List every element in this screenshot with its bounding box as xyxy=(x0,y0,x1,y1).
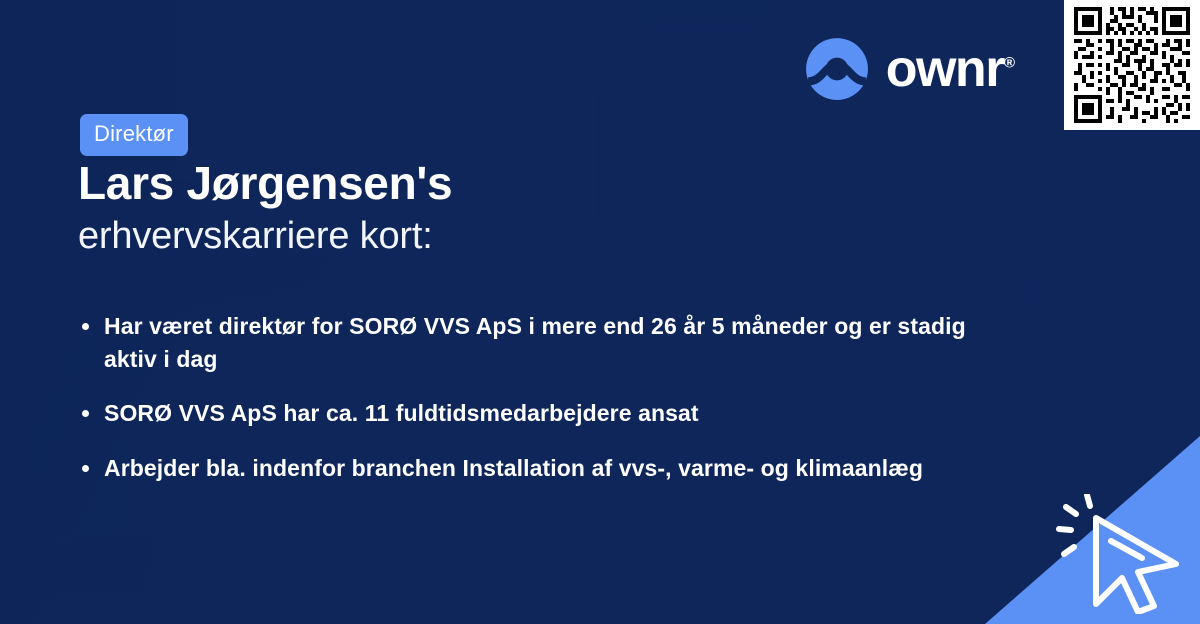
career-facts-list: Har været direktør for SORØ VVS ApS i me… xyxy=(78,310,978,507)
ownr-logo[interactable]: ownr® xyxy=(804,36,1015,102)
click-cursor-icon xyxy=(1054,494,1186,614)
list-item-text: SORØ VVS ApS har ca. 11 fuldtidsmedarbej… xyxy=(104,400,699,426)
list-item: Arbejder bla. indenfor branchen Installa… xyxy=(78,452,978,485)
role-badge: Direktør xyxy=(80,114,188,156)
business-career-card: ownr® xyxy=(0,0,1200,624)
list-item: SORØ VVS ApS har ca. 11 fuldtidsmedarbej… xyxy=(78,397,978,430)
ownr-wordmark: ownr® xyxy=(886,43,1015,95)
subtitle: erhvervskarriere kort: xyxy=(78,214,978,260)
registered-trademark-symbol: ® xyxy=(1004,55,1015,72)
bullet-dot-icon xyxy=(82,410,89,417)
list-item-text: Arbejder bla. indenfor branchen Installa… xyxy=(104,455,923,481)
list-item-text: Har været direktør for SORØ VVS ApS i me… xyxy=(104,313,966,372)
ownr-wordmark-text: ownr xyxy=(886,40,1004,98)
list-item: Har været direktør for SORØ VVS ApS i me… xyxy=(78,310,978,375)
page-title: Lars Jørgensen's erhvervskarriere kort: xyxy=(78,158,978,260)
bullet-dot-icon xyxy=(82,323,89,330)
bullet-dot-icon xyxy=(82,465,89,472)
qr-code-icon xyxy=(1071,7,1193,123)
ownr-circle-swirl-logo-icon xyxy=(804,36,870,102)
person-name: Lars Jørgensen's xyxy=(78,158,978,210)
qr-code-panel[interactable] xyxy=(1064,0,1200,130)
